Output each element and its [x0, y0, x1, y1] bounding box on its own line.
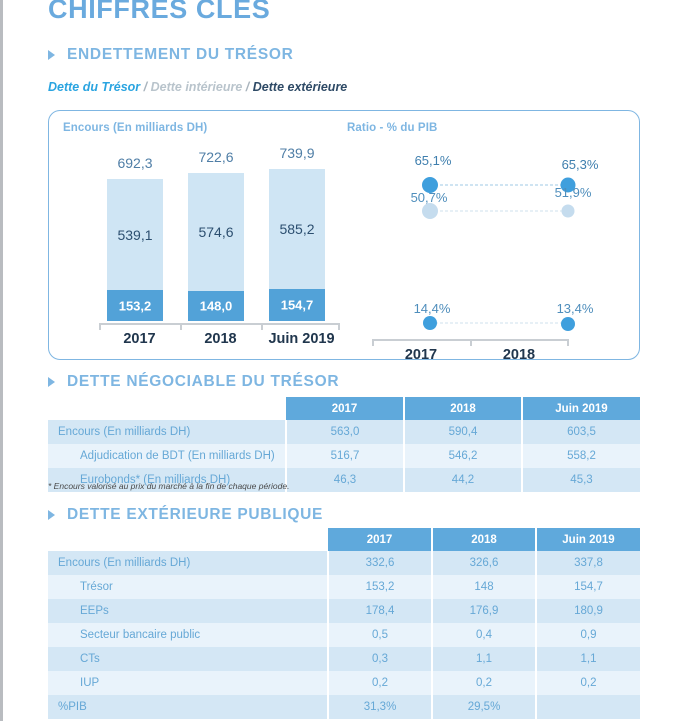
table2-row6-juin-2019 [536, 695, 640, 719]
table2-row0-2018: 326,6 [432, 551, 536, 575]
table2-row1-2017: 153,2 [328, 575, 432, 599]
table2-row6-2017: 31,3% [328, 695, 432, 719]
ratio-label-interieure-2017: 50,7% [411, 190, 448, 205]
table2-row4-2018: 1,1 [432, 647, 536, 671]
breadcrumb-separator-1: / [144, 80, 147, 94]
breadcrumb: Dette du Trésor / Dette intérieure / Det… [48, 80, 347, 94]
table-dette-exterieure: 2017 2018 Juin 2019 Encours (En milliard… [48, 528, 640, 719]
bar-xlabel-2018: 2018 [180, 331, 261, 347]
table-row: EEPs 178,4 176,9 180,9 [48, 599, 640, 623]
breadcrumb-separator-2: / [246, 80, 249, 94]
bar-axis-tick-1 [180, 323, 182, 330]
bar-label-interieure-juin-2019: 585,2 [269, 221, 325, 237]
ratio-label-tresor-2017: 65,1% [415, 153, 452, 168]
table2-header-juin-2019: Juin 2019 [536, 528, 640, 551]
breadcrumb-item-dette-interieure[interactable]: Dette intérieure [151, 80, 243, 94]
charts-card: Encours (En milliards DH) Ratio - % du P… [48, 110, 640, 360]
bar-axis-tick-2 [261, 323, 263, 330]
bar-segment-exterieure-juin-2019: 154,7 [269, 289, 325, 321]
table2-row5-label: IUP [48, 671, 328, 695]
table-row: IUP 0,2 0,2 0,2 [48, 671, 640, 695]
table1-row2-2018: 44,2 [404, 468, 522, 492]
table2-row2-2018: 176,9 [432, 599, 536, 623]
bar-segment-exterieure-2017: 153,2 [107, 290, 163, 321]
table1-row0-juin-2019: 603,5 [522, 420, 640, 444]
triangle-right-icon [48, 377, 55, 387]
page-title: CHIFFRES CLÉS [48, 0, 270, 25]
table1-header-2017: 2017 [286, 397, 404, 420]
table2-row2-label: EEPs [48, 599, 328, 623]
triangle-right-icon [48, 510, 55, 520]
bar-segment-interieure-2017: 539,1 [107, 179, 163, 290]
table2-row4-2017: 0,3 [328, 647, 432, 671]
table-row: %PIB 31,3% 29,5% [48, 695, 640, 719]
triangle-right-icon [48, 50, 55, 60]
table2-row6-2018: 29,5% [432, 695, 536, 719]
bar-group-juin-2019: 739,9 585,2 154,7 [269, 169, 325, 321]
bar-segment-interieure-juin-2019: 585,2 [269, 169, 325, 289]
bar-segment-exterieure-2018: 148,0 [188, 291, 244, 321]
bar-chart: 692,3 539,1 153,2 722,6 574,6 148,0 739,… [99, 159, 339, 321]
table2-row0-juin-2019: 337,8 [536, 551, 640, 575]
table1-header-blank [48, 397, 286, 420]
ratio-label-exterieure-2017: 14,4% [414, 301, 451, 316]
table-row: Secteur bancaire public 0,5 0,4 0,9 [48, 623, 640, 647]
table2-row0-label: Encours (En milliards DH) [48, 551, 328, 575]
table2-row4-label: CTs [48, 647, 328, 671]
ratio-connector-interieure [430, 211, 568, 212]
section-header-exterieure-label: DETTE EXTÉRIEURE PUBLIQUE [67, 506, 323, 524]
bar-axis-line [99, 323, 339, 325]
table2-row2-juin-2019: 180,9 [536, 599, 640, 623]
bar-axis-tick-end [338, 323, 340, 330]
table-header-row: 2017 2018 Juin 2019 [48, 397, 640, 420]
ratio-dot-interieure-2017 [422, 203, 438, 219]
table2-row3-label: Secteur bancaire public [48, 623, 328, 647]
bar-group-2017: 692,3 539,1 153,2 [107, 179, 163, 321]
table1-row2-juin-2019: 45,3 [522, 468, 640, 492]
table1-row1-2017: 516,7 [286, 444, 404, 468]
table1-row1-juin-2019: 558,2 [522, 444, 640, 468]
bar-label-exterieure-2017: 153,2 [107, 298, 163, 313]
table2-header-2018: 2018 [432, 528, 536, 551]
table2-header-blank [48, 528, 328, 551]
table-row: Encours (En milliards DH) 563,0 590,4 60… [48, 420, 640, 444]
bar-label-exterieure-2018: 148,0 [188, 299, 244, 314]
table2-row5-2018: 0,2 [432, 671, 536, 695]
table2-row5-juin-2019: 0,2 [536, 671, 640, 695]
table-row: CTs 0,3 1,1 1,1 [48, 647, 640, 671]
table1-footnote: * Encours valorisé au prix du marché à l… [48, 481, 289, 491]
table2-row5-2017: 0,2 [328, 671, 432, 695]
table1-row0-label: Encours (En milliards DH) [48, 420, 286, 444]
bar-chart-title: Encours (En milliards DH) [63, 122, 207, 134]
ratio-label-interieure-2018: 51,9% [555, 185, 592, 200]
section-header-negociable-label: DETTE NÉGOCIABLE DU TRÉSOR [67, 373, 339, 391]
table2-row3-2018: 0,4 [432, 623, 536, 647]
ratio-xlabel-2018: 2018 [470, 347, 568, 363]
ratio-chart: 65,1% 65,3% 50,7% 51,9% 14,4% 13,4% 2017… [349, 111, 641, 361]
table2-row1-2018: 148 [432, 575, 536, 599]
page-root: CHIFFRES CLÉS ENDETTEMENT DU TRÉSOR Dett… [0, 0, 683, 721]
bar-segment-interieure-2018: 574,6 [188, 173, 244, 291]
ratio-connector-exterieure [430, 323, 568, 324]
bar-axis-tick-start [99, 323, 101, 330]
bar-label-interieure-2018: 574,6 [188, 224, 244, 240]
table1-row2-2017: 46,3 [286, 468, 404, 492]
ratio-dot-exterieure-2018 [561, 317, 575, 331]
bar-xlabel-2017: 2017 [99, 331, 180, 347]
table2-header-2017: 2017 [328, 528, 432, 551]
table1-header-juin-2019: Juin 2019 [522, 397, 640, 420]
table2-row3-2017: 0,5 [328, 623, 432, 647]
bar-total-label-juin-2019: 739,9 [247, 145, 347, 161]
ratio-axis-tick-start [372, 339, 374, 346]
bar-xlabel-juin-2019: Juin 2019 [261, 331, 342, 347]
table1-row1-2018: 546,2 [404, 444, 522, 468]
ratio-dot-interieure-2018 [562, 205, 575, 218]
ratio-axis-tick-end [567, 339, 569, 346]
table2-row1-label: Trésor [48, 575, 328, 599]
table2-row6-label: %PIB [48, 695, 328, 719]
table1-row0-2017: 563,0 [286, 420, 404, 444]
table-row: Adjudication de BDT (En milliards DH) 51… [48, 444, 640, 468]
table-header-row: 2017 2018 Juin 2019 [48, 528, 640, 551]
ratio-xlabel-2017: 2017 [372, 347, 470, 363]
section-header-endettement-label: ENDETTEMENT DU TRÉSOR [67, 46, 294, 64]
ratio-axis-tick-mid [470, 339, 472, 346]
table1-header-2018: 2018 [404, 397, 522, 420]
table2-row0-2017: 332,6 [328, 551, 432, 575]
table2-row4-juin-2019: 1,1 [536, 647, 640, 671]
ratio-label-exterieure-2018: 13,4% [557, 301, 594, 316]
breadcrumb-item-dette-exterieure[interactable]: Dette extérieure [253, 80, 348, 94]
ratio-dot-exterieure-2017 [423, 316, 437, 330]
breadcrumb-item-dette-du-tresor[interactable]: Dette du Trésor [48, 80, 140, 94]
ratio-label-tresor-2018: 65,3% [562, 157, 599, 172]
table2-row1-juin-2019: 154,7 [536, 575, 640, 599]
ratio-connector-tresor [430, 185, 568, 186]
table1-row0-2018: 590,4 [404, 420, 522, 444]
bar-label-interieure-2017: 539,1 [107, 227, 163, 243]
section-header-endettement: ENDETTEMENT DU TRÉSOR [48, 46, 294, 64]
section-header-negociable: DETTE NÉGOCIABLE DU TRÉSOR [48, 373, 339, 391]
table1-row1-label: Adjudication de BDT (En milliards DH) [48, 444, 286, 468]
section-header-exterieure: DETTE EXTÉRIEURE PUBLIQUE [48, 506, 323, 524]
bar-group-2018: 722,6 574,6 148,0 [188, 173, 244, 321]
bar-label-exterieure-juin-2019: 154,7 [269, 298, 325, 313]
table-dette-negociable: 2017 2018 Juin 2019 Encours (En milliard… [48, 397, 640, 492]
table2-row3-juin-2019: 0,9 [536, 623, 640, 647]
table-row: Encours (En milliards DH) 332,6 326,6 33… [48, 551, 640, 575]
table2-row2-2017: 178,4 [328, 599, 432, 623]
table-row: Trésor 153,2 148 154,7 [48, 575, 640, 599]
